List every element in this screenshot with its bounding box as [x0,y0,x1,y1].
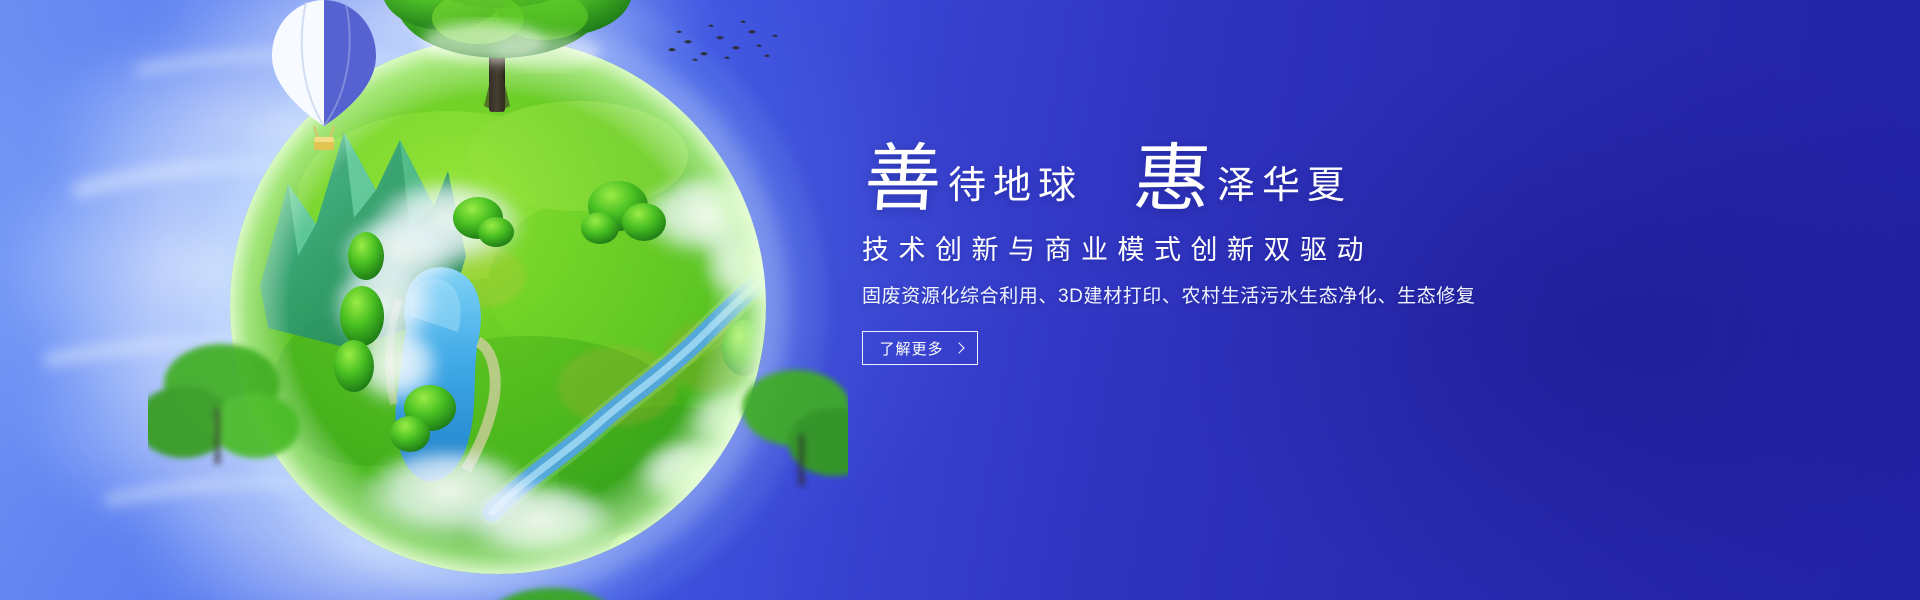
headline-group-2: 惠 泽华夏 [1131,136,1352,210]
headline-rest-2: 泽华夏 [1217,166,1352,204]
headline-lead-2: 惠 [1131,142,1213,216]
page-title: 善 待地球 惠 泽华夏 [862,136,1762,220]
hero-subtitle: 技术创新与商业模式创新双驱动 [862,234,1762,266]
learn-more-button[interactable]: 了解更多 [862,331,978,365]
headline-group-1: 善 待地球 [862,136,1083,210]
hero-description: 固废资源化综合利用、3D建材打印、农村生活污水生态净化、生态修复 [862,285,1762,309]
chevron-right-icon [953,342,964,353]
learn-more-label: 了解更多 [879,338,943,359]
headline-lead-1: 善 [862,142,944,216]
hero-banner: 善 待地球 惠 泽华夏 技术创新与商业模式创新双驱动 固废资源化综合利用、3D建… [0,0,1920,600]
hero-copy: 善 待地球 惠 泽华夏 技术创新与商业模式创新双驱动 固废资源化综合利用、3D建… [862,136,1762,365]
headline-rest-1: 待地球 [948,166,1083,204]
